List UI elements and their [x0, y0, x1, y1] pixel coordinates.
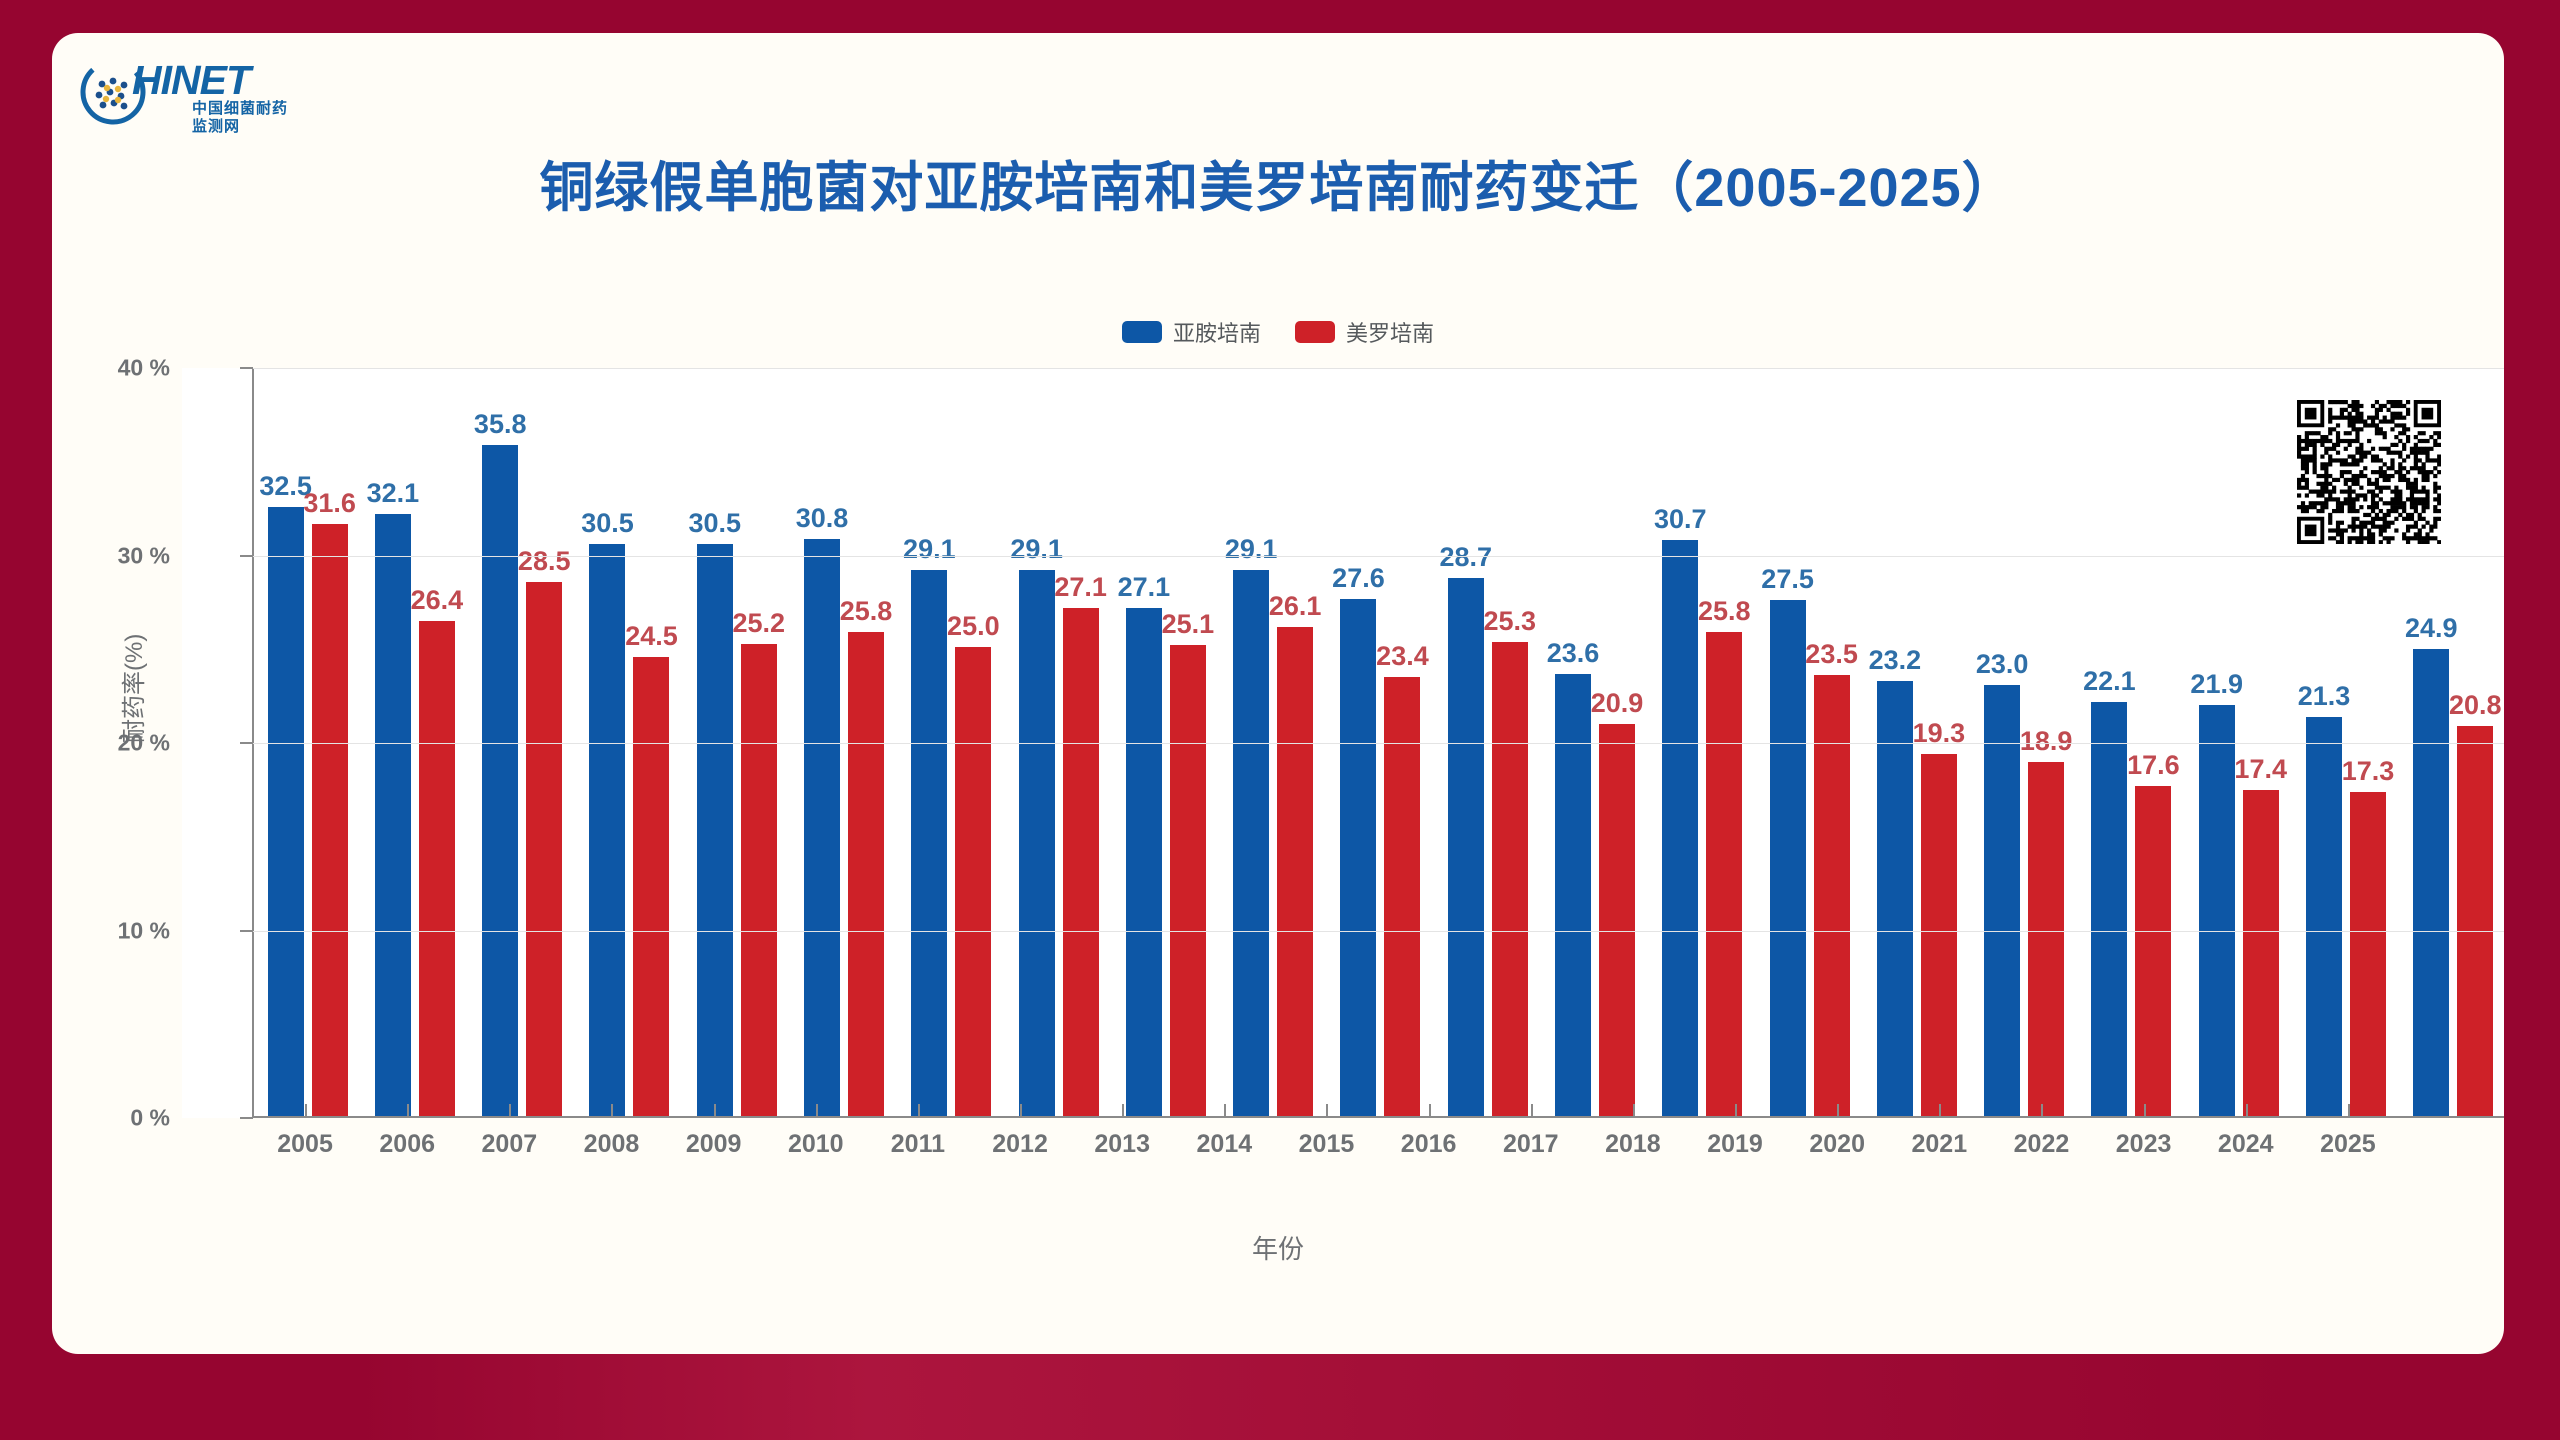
x-tick-label: 2022	[2014, 1118, 2070, 1159]
bar-meropenem[interactable]: 19.3	[1921, 754, 1957, 1116]
gridline	[252, 368, 2504, 369]
x-tick: 2008	[560, 1118, 662, 1159]
x-tick-mark	[1939, 1104, 1941, 1117]
bar-value-label: 29.1	[903, 534, 956, 565]
x-tick-mark	[816, 1104, 818, 1117]
y-tick-label: 40 %	[118, 355, 170, 382]
bar-group: 27.623.4	[1327, 368, 1434, 1116]
bar-value-label: 28.7	[1439, 542, 1492, 573]
x-tick: 2009	[663, 1118, 765, 1159]
bar-value-label: 23.4	[1376, 641, 1429, 672]
legend-item-1[interactable]: 亚胺培南	[1122, 316, 1261, 348]
x-tick-label: 2007	[482, 1118, 538, 1159]
bar-imipenem[interactable]: 23.2	[1877, 681, 1913, 1116]
bar-meropenem[interactable]: 17.3	[2350, 792, 2386, 1116]
x-tick-label: 2012	[992, 1118, 1048, 1159]
x-tick: 2005	[254, 1118, 356, 1159]
x-tick-mark	[1735, 1104, 1737, 1117]
x-tick-mark	[611, 1104, 613, 1117]
bar-group: 30.525.2	[683, 368, 790, 1116]
y-tick-label: 30 %	[118, 542, 170, 569]
bar-meropenem[interactable]: 27.1	[1063, 608, 1099, 1116]
bar-value-label: 25.8	[840, 596, 893, 627]
x-tick-label: 2017	[1503, 1118, 1559, 1159]
bar-group: 23.620.9	[1541, 368, 1648, 1116]
x-tick-mark	[1122, 1104, 1124, 1117]
legend-item-2[interactable]: 美罗培南	[1295, 316, 1434, 348]
x-tick-label: 2018	[1605, 1118, 1661, 1159]
y-axis-label: 耐药率(%)	[114, 634, 149, 743]
legend-swatch-icon	[1295, 321, 1335, 343]
x-tick: 2025	[2297, 1118, 2399, 1159]
bar-meropenem[interactable]: 24.5	[633, 657, 669, 1116]
x-tick-label: 2020	[1809, 1118, 1865, 1159]
bar-value-label: 22.1	[2083, 666, 2136, 697]
x-tick-label: 2010	[788, 1118, 844, 1159]
bar-group: 27.523.5	[1756, 368, 1863, 1116]
x-tick-label: 2011	[891, 1118, 945, 1159]
x-tick: 2010	[765, 1118, 867, 1159]
bar-value-label: 25.0	[947, 611, 1000, 642]
bar-value-label: 30.7	[1654, 504, 1707, 535]
y-tick-label: 0 %	[130, 1105, 170, 1132]
x-tick-label: 2009	[686, 1118, 742, 1159]
x-tick-label: 2019	[1707, 1118, 1763, 1159]
page-title: 铜绿假单胞菌对亚胺培南和美罗培南耐药变迁（2005-2025）	[52, 143, 2504, 222]
y-tick-mark	[240, 367, 253, 369]
bar-value-label: 30.5	[581, 508, 634, 539]
bar-meropenem[interactable]: 25.2	[741, 644, 777, 1117]
x-tick: 2006	[356, 1118, 458, 1159]
x-tick-mark	[1020, 1104, 1022, 1117]
x-axis-label: 年份	[52, 1229, 2504, 1266]
bar-imipenem[interactable]: 29.1	[911, 570, 947, 1116]
bar-imipenem[interactable]: 28.7	[1448, 578, 1484, 1116]
bar-imipenem[interactable]: 21.3	[2306, 717, 2342, 1116]
x-tick-label: 2024	[2218, 1118, 2274, 1159]
bar-imipenem[interactable]: 32.1	[375, 514, 411, 1116]
x-tick: 2017	[1480, 1118, 1582, 1159]
x-tick: 2022	[1990, 1118, 2092, 1159]
x-tick-label: 2008	[584, 1118, 640, 1159]
bar-value-label: 27.6	[1332, 563, 1385, 594]
x-tick-mark	[407, 1104, 409, 1117]
bar-value-label: 23.5	[1805, 639, 1858, 670]
bar-meropenem[interactable]: 28.5	[526, 582, 562, 1116]
x-tick: 2019	[1684, 1118, 1786, 1159]
bar-meropenem[interactable]: 25.0	[955, 647, 991, 1116]
gridline	[252, 556, 2504, 557]
bar-value-label: 23.2	[1869, 645, 1922, 676]
bar-meropenem[interactable]: 23.5	[1814, 675, 1850, 1116]
bar-value-label: 25.3	[1483, 606, 1536, 637]
bar-value-label: 23.0	[1976, 649, 2029, 680]
bar-imipenem[interactable]: 24.9	[2413, 649, 2449, 1116]
bar-value-label: 32.1	[367, 478, 420, 509]
bar-value-label: 20.8	[2449, 690, 2502, 721]
bar-meropenem[interactable]: 20.9	[1599, 724, 1635, 1116]
chart-card: HINET 中国细菌耐药 监测网 铜绿假单胞菌对亚胺培南和美罗培南耐药变迁（20…	[52, 33, 2504, 1354]
bar-meropenem[interactable]: 18.9	[2028, 762, 2064, 1116]
legend-label: 亚胺培南	[1173, 316, 1261, 348]
bar-meropenem[interactable]: 25.8	[1706, 632, 1742, 1116]
x-tick-mark	[2144, 1104, 2146, 1117]
y-tick-mark	[240, 1117, 253, 1119]
bar-value-label: 27.1	[1054, 572, 1107, 603]
x-tick: 2007	[458, 1118, 560, 1159]
bar-imipenem[interactable]: 35.8	[482, 445, 518, 1116]
x-tick-mark	[509, 1104, 511, 1117]
bar-value-label: 21.9	[2190, 669, 2243, 700]
bar-imipenem[interactable]: 22.1	[2091, 702, 2127, 1116]
legend-label: 美罗培南	[1346, 316, 1434, 348]
bar-value-label: 25.8	[1698, 596, 1751, 627]
y-tick-label: 10 %	[118, 917, 170, 944]
bar-imipenem[interactable]: 29.1	[1233, 570, 1269, 1116]
bar-imipenem[interactable]: 27.1	[1126, 608, 1162, 1116]
x-tick-mark	[714, 1104, 716, 1117]
bar-meropenem[interactable]: 17.6	[2135, 786, 2171, 1116]
y-tick-mark	[240, 555, 253, 557]
x-tick-label: 2006	[379, 1118, 435, 1159]
bar-meropenem[interactable]: 25.1	[1170, 645, 1206, 1116]
x-tick-mark	[2041, 1104, 2043, 1117]
x-tick-mark	[2246, 1104, 2248, 1117]
bar-imipenem[interactable]: 27.5	[1770, 600, 1806, 1116]
x-tick-mark	[1224, 1104, 1226, 1117]
legend-swatch-icon	[1122, 321, 1162, 343]
x-tick: 2015	[1275, 1118, 1377, 1159]
qr-code-image	[2297, 400, 2441, 544]
bar-imipenem[interactable]: 27.6	[1340, 599, 1376, 1117]
bar-meropenem[interactable]: 25.8	[848, 632, 884, 1116]
logo-chinese-line-2: 监测网	[192, 115, 240, 136]
bar-value-label: 20.9	[1591, 688, 1644, 719]
bar-group: 29.125.0	[898, 368, 1005, 1116]
bar-group: 30.524.5	[576, 368, 683, 1116]
bar-groups: 32.531.632.126.435.828.530.524.530.525.2…	[254, 368, 2504, 1116]
x-tick-mark	[1326, 1104, 1328, 1117]
bar-value-label: 26.1	[1269, 591, 1322, 622]
x-tick-label: 2005	[277, 1118, 333, 1159]
bar-value-label: 23.6	[1547, 638, 1600, 669]
x-tick-mark	[918, 1104, 920, 1117]
bar-value-label: 17.4	[2234, 754, 2287, 785]
bar-meropenem[interactable]: 17.4	[2243, 790, 2279, 1116]
bar-imipenem[interactable]: 23.0	[1984, 685, 2020, 1116]
y-tick-mark	[240, 930, 253, 932]
bar-value-label: 17.3	[2342, 756, 2395, 787]
bar-group: 21.917.4	[2185, 368, 2292, 1116]
bar-group: 32.126.4	[361, 368, 468, 1116]
bar-value-label: 27.5	[1761, 564, 1814, 595]
bar-value-label: 30.5	[688, 508, 741, 539]
bar-imipenem[interactable]: 30.5	[697, 544, 733, 1116]
bar-group: 23.219.3	[1863, 368, 1970, 1116]
bar-group: 28.725.3	[1434, 368, 1541, 1116]
bar-imipenem[interactable]: 30.8	[804, 539, 840, 1117]
y-tick-mark	[240, 742, 253, 744]
bar-value-label: 25.1	[1162, 609, 1215, 640]
bar-imipenem[interactable]: 32.5	[268, 507, 304, 1116]
bar-value-label: 21.3	[2298, 681, 2351, 712]
bar-meropenem[interactable]: 26.1	[1277, 627, 1313, 1116]
bar-group: 30.725.8	[1649, 368, 1756, 1116]
bar-value-label: 27.1	[1118, 572, 1171, 603]
x-tick-label: 2013	[1094, 1118, 1150, 1159]
bar-group: 29.126.1	[1220, 368, 1327, 1116]
x-tick-mark	[1633, 1104, 1635, 1117]
x-tick-label: 2014	[1197, 1118, 1253, 1159]
bar-value-label: 26.4	[411, 585, 464, 616]
bar-value-label: 24.9	[2405, 613, 2458, 644]
bar-imipenem[interactable]: 30.5	[589, 544, 625, 1116]
x-tick-label: 2023	[2116, 1118, 2172, 1159]
gridline	[252, 743, 2504, 744]
bar-meropenem[interactable]: 31.6	[312, 524, 348, 1117]
bar-value-label: 28.5	[518, 546, 571, 577]
bar-imipenem[interactable]: 29.1	[1019, 570, 1055, 1116]
x-tick: 2013	[1071, 1118, 1173, 1159]
bar-group: 29.127.1	[1005, 368, 1112, 1116]
bar-value-label: 31.6	[303, 488, 356, 519]
bar-value-label: 19.3	[1913, 718, 1966, 749]
qr-code[interactable]	[2297, 400, 2441, 544]
bar-imipenem[interactable]: 21.9	[2199, 705, 2235, 1116]
x-tick-mark	[305, 1104, 307, 1117]
x-tick-mark	[2348, 1104, 2350, 1117]
bar-value-label: 25.2	[732, 608, 785, 639]
x-tick: 2012	[969, 1118, 1071, 1159]
x-tick: 2014	[1173, 1118, 1275, 1159]
x-tick-mark	[1531, 1104, 1533, 1117]
x-tick: 2016	[1378, 1118, 1480, 1159]
x-tick: 2023	[2093, 1118, 2195, 1159]
bar-group: 32.531.6	[254, 368, 361, 1116]
x-tick: 2024	[2195, 1118, 2297, 1159]
x-tick-label: 2025	[2320, 1118, 2376, 1159]
bar-value-label: 30.8	[796, 503, 849, 534]
bar-value-label: 17.6	[2127, 750, 2180, 781]
bar-meropenem[interactable]: 20.8	[2457, 726, 2493, 1116]
bar-group: 27.125.1	[1112, 368, 1219, 1116]
chart-legend: 亚胺培南美罗培南	[52, 316, 2504, 348]
bar-value-label: 24.5	[625, 621, 678, 652]
bar-value-label: 29.1	[1225, 534, 1278, 565]
bar-value-label: 29.1	[1010, 534, 1063, 565]
chinet-logo: HINET 中国细菌耐药 监测网	[80, 55, 320, 133]
bar-value-label: 35.8	[474, 409, 527, 440]
bar-group: 35.828.5	[469, 368, 576, 1116]
bar-group: 22.117.6	[2078, 368, 2185, 1116]
x-tick-label: 2015	[1299, 1118, 1355, 1159]
x-tick-mark	[1429, 1104, 1431, 1117]
gridline	[252, 931, 2504, 932]
x-tick: 2018	[1582, 1118, 1684, 1159]
x-tick-label: 2016	[1401, 1118, 1457, 1159]
x-axis-ticks: 2005200620072008200920102011201220132014…	[254, 1118, 2399, 1159]
bar-imipenem[interactable]: 30.7	[1662, 540, 1698, 1116]
x-tick: 2021	[1888, 1118, 1990, 1159]
bar-value-label: 18.9	[2020, 726, 2073, 757]
x-tick-label: 2021	[1912, 1118, 1968, 1159]
x-tick: 2011	[867, 1118, 969, 1159]
bar-meropenem[interactable]: 26.4	[419, 621, 455, 1116]
bar-imipenem[interactable]: 23.6	[1555, 674, 1591, 1117]
bar-meropenem[interactable]: 25.3	[1492, 642, 1528, 1116]
bar-group: 30.825.8	[790, 368, 897, 1116]
bar-group: 23.018.9	[1971, 368, 2078, 1116]
plot-area: 32.531.632.126.435.828.530.524.530.525.2…	[182, 368, 2504, 1118]
x-tick: 2020	[1786, 1118, 1888, 1159]
x-tick-mark	[1837, 1104, 1839, 1117]
